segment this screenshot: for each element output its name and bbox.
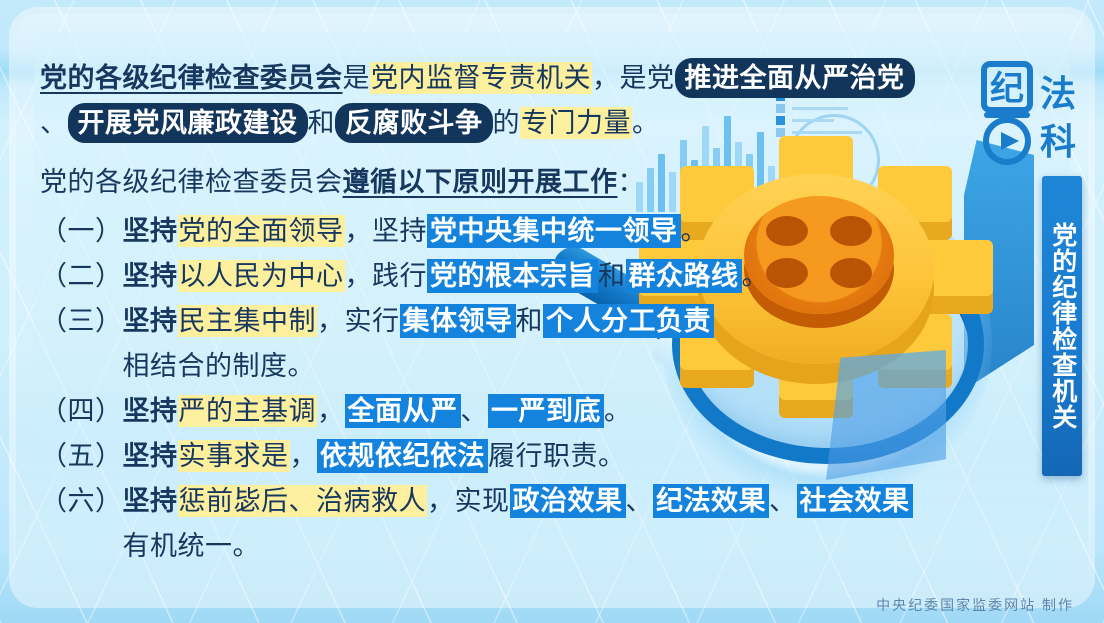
- item-number: （四）: [40, 389, 123, 434]
- item-yellow: 惩前毖后、治病救人: [178, 485, 428, 517]
- list-item: （四） 坚持严的主基调，全面从严、一严到底。: [40, 389, 920, 434]
- vertical-banner: 党的纪律检查机关: [1042, 176, 1082, 476]
- item-tail: 。: [742, 261, 770, 291]
- item-tail: 。: [604, 396, 632, 426]
- item-mid2: 、: [626, 486, 654, 516]
- header-plain-b: ，是党: [592, 63, 675, 93]
- item-tail: 有机统一。: [123, 531, 261, 561]
- item-number: （二）: [40, 254, 123, 299]
- header-line2-plain-c: 。: [632, 108, 660, 138]
- item-mid: ，坚持: [345, 216, 428, 246]
- item-tail: 履行职责。: [488, 441, 626, 471]
- poster-canvas: 纪 法 科 党的纪律检查机关 党的各级纪律检查委员会是党内监督专责机关，是党推进…: [0, 0, 1104, 623]
- item-bold: 坚持: [123, 396, 178, 426]
- item-number: （一）: [40, 209, 123, 254]
- intro-plain-a: 党的各级纪律检查委员会: [40, 167, 343, 197]
- item-blue: 党的根本宗旨: [427, 259, 598, 293]
- item-mid2: 和: [516, 306, 544, 336]
- item-bold: 坚持: [123, 261, 178, 291]
- item-blue3: 社会效果: [797, 484, 913, 518]
- item-number: （六）: [40, 479, 123, 569]
- blue-ribbon-decoration: [964, 140, 1034, 390]
- item-blue2: 纪法效果: [653, 484, 769, 518]
- header-highlight-b: 专门力量: [520, 107, 632, 139]
- item-text: 坚持民主集中制，实行集体领导和个人分工负责相结合的制度。: [123, 299, 921, 389]
- article-body: 党的各级纪律检查委员会是党内监督专责机关，是党推进全面从严治党、开展党风廉政建设…: [40, 56, 920, 569]
- item-blue: 党中央集中统一领导: [427, 214, 681, 248]
- item-number: （五）: [40, 434, 123, 479]
- item-text: 坚持严的主基调，全面从严、一严到底。: [123, 389, 921, 434]
- header-subject: 党的各级纪律检查委员会: [40, 63, 343, 93]
- logo-char-2: 法: [1040, 74, 1076, 114]
- item-mid3: 、: [769, 486, 797, 516]
- item-mid: ，实现: [427, 486, 510, 516]
- item-yellow: 严的主基调: [178, 395, 318, 427]
- item-tail: 。: [681, 216, 709, 246]
- item-bold: 坚持: [123, 441, 178, 471]
- header-highlight-a: 党内监督专责机关: [370, 62, 592, 94]
- item-yellow: 以人民为中心: [178, 260, 345, 292]
- header-line2-plain-a: 和: [308, 108, 336, 138]
- list-item: （三） 坚持民主集中制，实行集体领导和个人分工负责相结合的制度。: [40, 299, 920, 389]
- item-mid2: 和: [598, 261, 626, 291]
- header-pill-a: 推进全面从严治党: [675, 58, 915, 98]
- item-blue: 集体领导: [400, 304, 516, 338]
- list-item: （一） 坚持党的全面领导，坚持党中央集中统一领导。: [40, 209, 920, 254]
- item-yellow: 党的全面领导: [178, 215, 345, 247]
- item-blue: 依规依纪依法: [317, 439, 488, 473]
- list-item: （二） 坚持以人民为中心，践行党的根本宗旨和群众路线。: [40, 254, 920, 299]
- item-text: 坚持实事求是，依规依纪依法履行职责。: [123, 434, 921, 479]
- logo-svg: 纪 法 科: [978, 58, 1086, 166]
- item-yellow: 民主集中制: [178, 305, 318, 337]
- item-text: 坚持惩前毖后、治病救人，实现政治效果、纪法效果、社会效果有机统一。: [123, 479, 921, 569]
- item-mid: ，: [317, 396, 345, 426]
- item-bold: 坚持: [123, 486, 178, 516]
- header-paragraph: 党的各级纪律检查委员会是党内监督专责机关，是党推进全面从严治党、开展党风廉政建设…: [40, 56, 920, 146]
- item-blue: 全面从严: [345, 394, 461, 428]
- item-mid: ，: [290, 441, 318, 471]
- logo-char-1: 纪: [990, 70, 1024, 108]
- item-bold: 坚持: [123, 216, 178, 246]
- item-blue2: 个人分工负责: [543, 304, 714, 338]
- list-item: （五） 坚持实事求是，依规依纪依法履行职责。: [40, 434, 920, 479]
- play-icon: [1001, 132, 1019, 150]
- header-pill-c: 反腐败斗争: [335, 103, 493, 143]
- item-bold: 坚持: [123, 306, 178, 336]
- item-blue2: 群众路线: [626, 259, 742, 293]
- item-mid: ，践行: [345, 261, 428, 291]
- header-plain-a: 是: [343, 63, 371, 93]
- item-mid: ，实行: [317, 306, 400, 336]
- item-blue: 政治效果: [510, 484, 626, 518]
- list-item: （六） 坚持惩前毖后、治病救人，实现政治效果、纪法效果、社会效果有机统一。: [40, 479, 920, 569]
- item-number: （三）: [40, 299, 123, 389]
- header-plain-c: 、: [40, 108, 68, 138]
- brand-logo[interactable]: 纪 法 科: [978, 58, 1086, 166]
- intro-paragraph: 党的各级纪律检查委员会遵循以下原则开展工作：: [40, 160, 920, 205]
- footer-credit: 中央纪委国家监委网站 制作: [876, 595, 1074, 615]
- item-second-line: 相结合的制度。: [123, 351, 316, 381]
- item-blue2: 一严到底: [488, 394, 604, 428]
- item-text: 坚持以人民为中心，践行党的根本宗旨和群众路线。: [123, 254, 921, 299]
- intro-underlined: 遵循以下原则开展工作: [343, 167, 618, 197]
- header-line2-plain-b: 的: [493, 108, 521, 138]
- intro-plain-b: ：: [618, 167, 646, 197]
- header-pill-b: 开展党风廉政建设: [68, 103, 308, 143]
- item-yellow: 实事求是: [178, 440, 290, 472]
- item-text: 坚持党的全面领导，坚持党中央集中统一领导。: [123, 209, 921, 254]
- item-mid2: 、: [461, 396, 489, 426]
- gear-tooth: [919, 240, 993, 296]
- logo-char-4: 科: [1040, 122, 1076, 162]
